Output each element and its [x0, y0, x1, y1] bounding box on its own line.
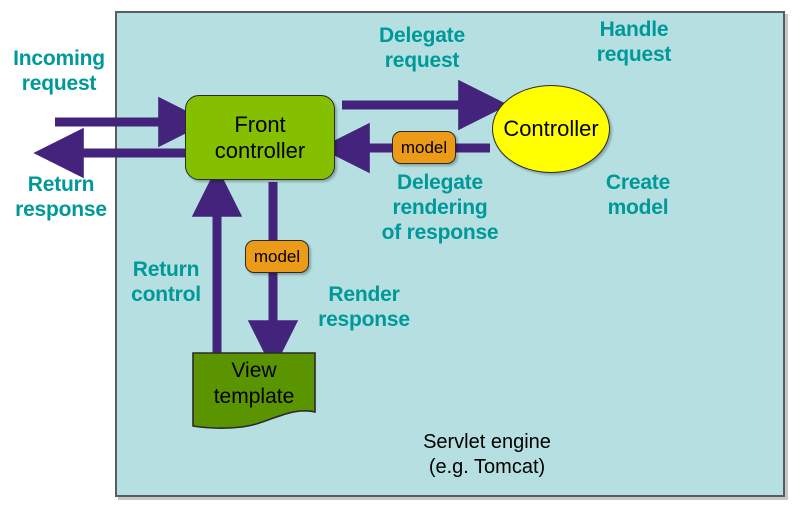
controller-node[interactable]: Controller: [492, 85, 610, 173]
model-badge-bottom[interactable]: model: [245, 240, 309, 273]
label-return-control: Return control: [110, 257, 222, 307]
front-controller-node[interactable]: Front controller: [185, 95, 335, 180]
diagram-canvas: View template Front controller Controlle…: [0, 0, 800, 513]
label-handle-request: Handle request: [560, 17, 708, 67]
label-incoming-request: Incoming request: [0, 46, 118, 96]
label-render-response: Render response: [300, 282, 428, 332]
view-template-shape: [190, 350, 318, 432]
label-delegate-rendering: Delegate rendering of response: [355, 170, 525, 245]
label-create-model: Create model: [568, 170, 708, 220]
model-badge-top[interactable]: model: [392, 131, 456, 164]
label-return-response: Return response: [0, 172, 122, 222]
label-delegate-request: Delegate request: [352, 23, 492, 73]
servlet-engine-caption: Servlet engine (e.g. Tomcat): [362, 430, 612, 480]
